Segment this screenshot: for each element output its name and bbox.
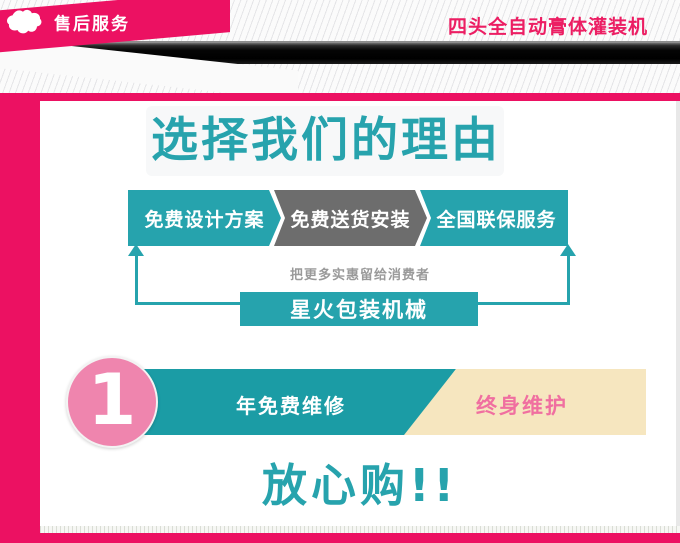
warranty-lifetime-label: 终身维护 bbox=[476, 390, 568, 420]
brand-name: 星火包装机械 bbox=[290, 294, 428, 324]
process-box-design[interactable]: 免费设计方案 bbox=[128, 190, 281, 246]
process-box-delivery-label: 免费送货安装 bbox=[290, 205, 410, 232]
connector-right-arrow-icon bbox=[560, 244, 576, 256]
footer-slogan: 放心购!! bbox=[40, 458, 680, 514]
main-title: 选择我们的理由 bbox=[146, 112, 506, 170]
warranty-free-repair-label: 年免费维修 bbox=[236, 390, 346, 419]
frame-content: 选择我们的理由 免费设计方案 免费送货安装 全国联保服务 bbox=[40, 101, 680, 533]
warranty-band: 年免费维修 终身维护 bbox=[86, 369, 646, 435]
pink-frame: 选择我们的理由 免费设计方案 免费送货安装 全国联保服务 bbox=[0, 93, 680, 543]
blob-splat-icon bbox=[6, 9, 42, 35]
warranty-year-number: 1 bbox=[88, 365, 137, 435]
warranty-year-badge: 1 bbox=[66, 356, 158, 448]
page-header: 售后服务 四头全自动膏体灌装机 bbox=[0, 0, 680, 93]
connector-left-vertical bbox=[135, 256, 138, 305]
process-box-row: 免费设计方案 免费送货安装 全国联保服务 bbox=[128, 190, 568, 246]
process-box-warranty-label: 全国联保服务 bbox=[436, 205, 556, 232]
connector-left-arrow-icon bbox=[128, 244, 144, 256]
after-sales-tag-inner: 售后服务 bbox=[0, 1, 230, 43]
connector-right-vertical bbox=[567, 256, 570, 305]
after-sales-tag-label: 售后服务 bbox=[54, 10, 130, 35]
process-box-warranty[interactable]: 全国联保服务 bbox=[420, 190, 573, 246]
page-root: 售后服务 四头全自动膏体灌装机 选择我们的理由 免费设计方案 免费送货安装 全国… bbox=[0, 0, 680, 543]
process-box-delivery[interactable]: 免费送货安装 bbox=[274, 190, 427, 246]
process-box-design-label: 免费设计方案 bbox=[144, 205, 264, 232]
brand-box: 星火包装机械 bbox=[240, 292, 478, 326]
product-title: 四头全自动膏体灌装机 bbox=[448, 15, 668, 39]
tagline-text: 把更多实惠留给消费者 bbox=[180, 264, 540, 283]
frame-bottom-stripe bbox=[40, 526, 680, 533]
